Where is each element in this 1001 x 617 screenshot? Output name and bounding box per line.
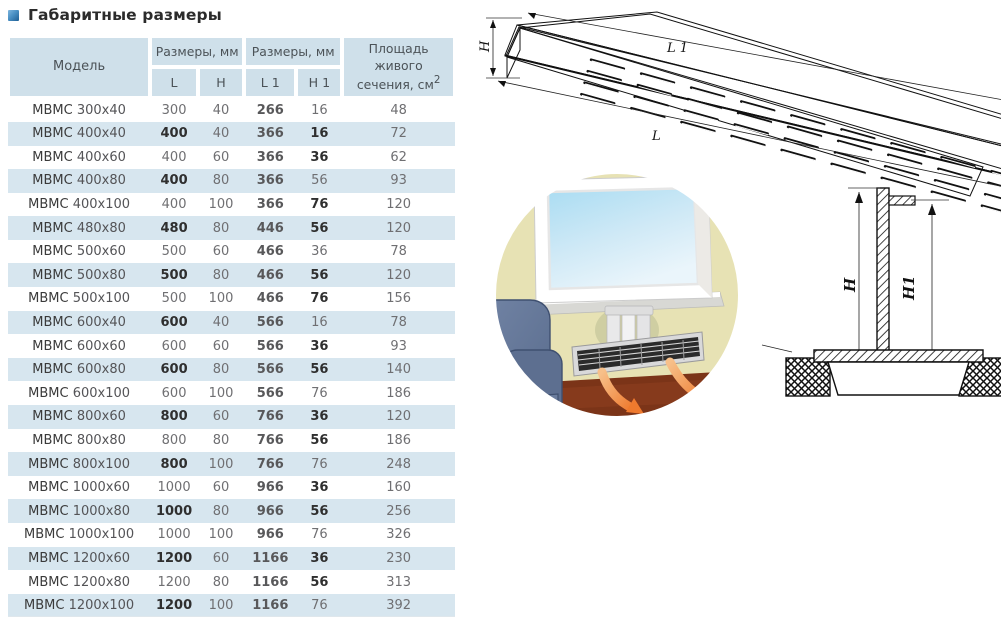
cell-model: МВМС 300x40 bbox=[8, 98, 150, 122]
table-body: МВМС 300x40300402661648МВМС 400x40400403… bbox=[8, 98, 455, 617]
cell-l1: 366 bbox=[244, 193, 296, 217]
cell-l1: 266 bbox=[244, 98, 296, 122]
table-row: МВМС 1200x80120080116656313 bbox=[8, 570, 455, 594]
cell-area: 78 bbox=[342, 240, 455, 264]
cell-h1: 16 bbox=[296, 311, 342, 335]
cell-area: 120 bbox=[342, 193, 455, 217]
cell-l1: 1166 bbox=[244, 570, 296, 594]
cell-l: 300 bbox=[150, 98, 198, 122]
page-title: Габаритные размеры bbox=[8, 6, 222, 24]
header-area: Площадь живого сечения, см2 bbox=[342, 36, 455, 98]
cell-h1: 76 bbox=[296, 523, 342, 547]
cell-l1: 366 bbox=[244, 122, 296, 146]
cell-area: 186 bbox=[342, 381, 455, 405]
cell-h: 40 bbox=[198, 98, 244, 122]
interior-illustration bbox=[462, 0, 1001, 526]
table-row: МВМС 300x40300402661648 bbox=[8, 98, 455, 122]
cell-model: МВМС 500x80 bbox=[8, 263, 150, 287]
cell-h: 100 bbox=[198, 287, 244, 311]
cell-h1: 76 bbox=[296, 287, 342, 311]
cell-model: МВМС 1200x100 bbox=[8, 594, 150, 617]
cell-model: МВМС 1000x80 bbox=[8, 499, 150, 523]
cell-h1: 56 bbox=[296, 570, 342, 594]
cell-l1: 466 bbox=[244, 287, 296, 311]
cell-h1: 16 bbox=[296, 98, 342, 122]
dimensions-table-wrapper: Модель Размеры, мм Размеры, мм Площадь ж… bbox=[8, 36, 455, 617]
cell-model: МВМС 600x100 bbox=[8, 381, 150, 405]
table-row: МВМС 600x60600605663693 bbox=[8, 334, 455, 358]
header-h: H bbox=[198, 67, 244, 99]
cell-l: 500 bbox=[150, 240, 198, 264]
cell-l: 600 bbox=[150, 311, 198, 335]
cell-model: МВМС 500x100 bbox=[8, 287, 150, 311]
dimensions-table: Модель Размеры, мм Размеры, мм Площадь ж… bbox=[8, 36, 455, 617]
cell-model: МВМС 600x80 bbox=[8, 358, 150, 382]
cell-h1: 16 bbox=[296, 122, 342, 146]
cell-h1: 36 bbox=[296, 547, 342, 571]
cell-model: МВМС 800x100 bbox=[8, 452, 150, 476]
cell-area: 93 bbox=[342, 169, 455, 193]
header-area-superscript: 2 bbox=[434, 74, 441, 86]
cell-l1: 1166 bbox=[244, 594, 296, 617]
table-row: МВМС 1000x6010006096636160 bbox=[8, 476, 455, 500]
cell-model: МВМС 1200x60 bbox=[8, 547, 150, 571]
table-header-row-group: Модель Размеры, мм Размеры, мм Площадь ж… bbox=[8, 36, 455, 67]
header-area-text: Площадь живого сечения, см bbox=[357, 41, 434, 92]
cell-h1: 56 bbox=[296, 358, 342, 382]
header-l: L bbox=[150, 67, 198, 99]
cell-h: 100 bbox=[198, 381, 244, 405]
cell-l: 600 bbox=[150, 358, 198, 382]
table-row: МВМС 480x804808044656120 bbox=[8, 216, 455, 240]
cell-model: МВМС 1000x100 bbox=[8, 523, 150, 547]
cell-l: 600 bbox=[150, 381, 198, 405]
cell-area: 78 bbox=[342, 311, 455, 335]
cell-h: 80 bbox=[198, 263, 244, 287]
cell-area: 120 bbox=[342, 263, 455, 287]
cell-area: 62 bbox=[342, 146, 455, 170]
cell-h1: 56 bbox=[296, 216, 342, 240]
table-row: МВМС 1200x60120060116636230 bbox=[8, 547, 455, 571]
table-row: МВМС 600x806008056656140 bbox=[8, 358, 455, 382]
table-row: МВМС 1200x1001200100116676392 bbox=[8, 594, 455, 617]
table-row: МВМС 1000x8010008096656256 bbox=[8, 499, 455, 523]
cell-model: МВМС 1200x80 bbox=[8, 570, 150, 594]
cell-l1: 366 bbox=[244, 146, 296, 170]
table-row: МВМС 500x10050010046676156 bbox=[8, 287, 455, 311]
cell-l1: 566 bbox=[244, 334, 296, 358]
cell-l1: 466 bbox=[244, 263, 296, 287]
cell-area: 140 bbox=[342, 358, 455, 382]
cell-h1: 36 bbox=[296, 334, 342, 358]
header-group-lh: Размеры, мм bbox=[150, 36, 244, 67]
table-row: МВМС 400x10040010036676120 bbox=[8, 193, 455, 217]
cell-area: 186 bbox=[342, 429, 455, 453]
cell-h1: 76 bbox=[296, 193, 342, 217]
cell-l1: 966 bbox=[244, 476, 296, 500]
cell-l: 800 bbox=[150, 405, 198, 429]
header-model: Модель bbox=[8, 36, 150, 98]
cell-model: МВМС 400x60 bbox=[8, 146, 150, 170]
cell-h1: 76 bbox=[296, 594, 342, 617]
table-row: МВМС 800x608006076636120 bbox=[8, 405, 455, 429]
cell-l1: 766 bbox=[244, 405, 296, 429]
cell-l1: 566 bbox=[244, 358, 296, 382]
cell-model: МВМС 800x60 bbox=[8, 405, 150, 429]
cell-model: МВМС 600x40 bbox=[8, 311, 150, 335]
cell-area: 72 bbox=[342, 122, 455, 146]
cell-h1: 36 bbox=[296, 240, 342, 264]
cell-l1: 766 bbox=[244, 429, 296, 453]
cell-h1: 76 bbox=[296, 381, 342, 405]
cell-h: 60 bbox=[198, 547, 244, 571]
cell-l1: 966 bbox=[244, 523, 296, 547]
cell-h: 80 bbox=[198, 358, 244, 382]
table-row: МВМС 800x808008076656186 bbox=[8, 429, 455, 453]
cell-h1: 56 bbox=[296, 263, 342, 287]
header-h1: H 1 bbox=[296, 67, 342, 99]
illustration-scene bbox=[472, 165, 762, 435]
cell-l: 1000 bbox=[150, 499, 198, 523]
cell-l: 500 bbox=[150, 263, 198, 287]
cell-h1: 36 bbox=[296, 146, 342, 170]
cell-l: 1200 bbox=[150, 570, 198, 594]
cell-h: 100 bbox=[198, 193, 244, 217]
technical-drawings-panel: H L 1 L bbox=[462, 0, 1001, 526]
cell-h: 80 bbox=[198, 169, 244, 193]
cell-h: 100 bbox=[198, 523, 244, 547]
cell-l: 600 bbox=[150, 334, 198, 358]
cell-model: МВМС 400x40 bbox=[8, 122, 150, 146]
cell-l: 800 bbox=[150, 429, 198, 453]
table-row: МВМС 500x60500604663678 bbox=[8, 240, 455, 264]
cell-h1: 56 bbox=[296, 429, 342, 453]
header-l1: L 1 bbox=[244, 67, 296, 99]
cell-h: 40 bbox=[198, 122, 244, 146]
cell-l: 400 bbox=[150, 193, 198, 217]
cell-area: 392 bbox=[342, 594, 455, 617]
table-row: МВМС 400x80400803665693 bbox=[8, 169, 455, 193]
cell-l: 400 bbox=[150, 122, 198, 146]
cell-h: 60 bbox=[198, 240, 244, 264]
cell-l: 1200 bbox=[150, 594, 198, 617]
table-row: МВМС 500x805008046656120 bbox=[8, 263, 455, 287]
spec-sheet-page: Габаритные размеры Модель Размеры, мм Ра… bbox=[0, 0, 1001, 526]
cell-h: 80 bbox=[198, 570, 244, 594]
cell-area: 256 bbox=[342, 499, 455, 523]
cell-area: 160 bbox=[342, 476, 455, 500]
cell-h: 100 bbox=[198, 594, 244, 617]
cell-h: 60 bbox=[198, 405, 244, 429]
cell-l1: 446 bbox=[244, 216, 296, 240]
cell-h: 60 bbox=[198, 476, 244, 500]
cell-l: 400 bbox=[150, 169, 198, 193]
cell-area: 156 bbox=[342, 287, 455, 311]
cell-h1: 56 bbox=[296, 499, 342, 523]
square-bullet-icon bbox=[8, 10, 19, 21]
cell-l: 800 bbox=[150, 452, 198, 476]
cell-area: 248 bbox=[342, 452, 455, 476]
cell-h1: 56 bbox=[296, 169, 342, 193]
cell-model: МВМС 800x80 bbox=[8, 429, 150, 453]
cell-area: 326 bbox=[342, 523, 455, 547]
cell-area: 120 bbox=[342, 405, 455, 429]
cell-l1: 766 bbox=[244, 452, 296, 476]
table-row: МВМС 1000x100100010096676326 bbox=[8, 523, 455, 547]
cell-l1: 966 bbox=[244, 499, 296, 523]
window-glass bbox=[548, 188, 698, 289]
cell-h1: 36 bbox=[296, 476, 342, 500]
cell-l: 1200 bbox=[150, 547, 198, 571]
cell-h: 100 bbox=[198, 452, 244, 476]
page-title-text: Габаритные размеры bbox=[28, 6, 222, 24]
cell-area: 120 bbox=[342, 216, 455, 240]
cell-l: 400 bbox=[150, 146, 198, 170]
table-row: МВМС 800x10080010076676248 bbox=[8, 452, 455, 476]
cell-l1: 566 bbox=[244, 311, 296, 335]
cell-model: МВМС 480x80 bbox=[8, 216, 150, 240]
cell-model: МВМС 600x60 bbox=[8, 334, 150, 358]
cell-l: 1000 bbox=[150, 523, 198, 547]
cell-h: 60 bbox=[198, 334, 244, 358]
cell-h1: 36 bbox=[296, 405, 342, 429]
cell-model: МВМС 500x60 bbox=[8, 240, 150, 264]
cell-l1: 466 bbox=[244, 240, 296, 264]
cell-h: 80 bbox=[198, 429, 244, 453]
cell-h: 80 bbox=[198, 216, 244, 240]
cell-model: МВМС 400x100 bbox=[8, 193, 150, 217]
cell-h1: 76 bbox=[296, 452, 342, 476]
cell-l1: 1166 bbox=[244, 547, 296, 571]
cell-l1: 366 bbox=[244, 169, 296, 193]
cell-area: 93 bbox=[342, 334, 455, 358]
cell-h: 80 bbox=[198, 499, 244, 523]
cell-area: 313 bbox=[342, 570, 455, 594]
cell-model: МВМС 1000x60 bbox=[8, 476, 150, 500]
table-row: МВМС 600x40600405661678 bbox=[8, 311, 455, 335]
cell-l: 1000 bbox=[150, 476, 198, 500]
cell-l1: 566 bbox=[244, 381, 296, 405]
table-row: МВМС 400x60400603663662 bbox=[8, 146, 455, 170]
table-header: Модель Размеры, мм Размеры, мм Площадь ж… bbox=[8, 36, 455, 98]
cell-model: МВМС 400x80 bbox=[8, 169, 150, 193]
cell-l: 500 bbox=[150, 287, 198, 311]
table-row: МВМС 400x40400403661672 bbox=[8, 122, 455, 146]
cell-h: 60 bbox=[198, 146, 244, 170]
cell-area: 230 bbox=[342, 547, 455, 571]
table-row: МВМС 600x10060010056676186 bbox=[8, 381, 455, 405]
cell-h: 40 bbox=[198, 311, 244, 335]
header-group-l1h1: Размеры, мм bbox=[244, 36, 342, 67]
cell-area: 48 bbox=[342, 98, 455, 122]
cell-l: 480 bbox=[150, 216, 198, 240]
